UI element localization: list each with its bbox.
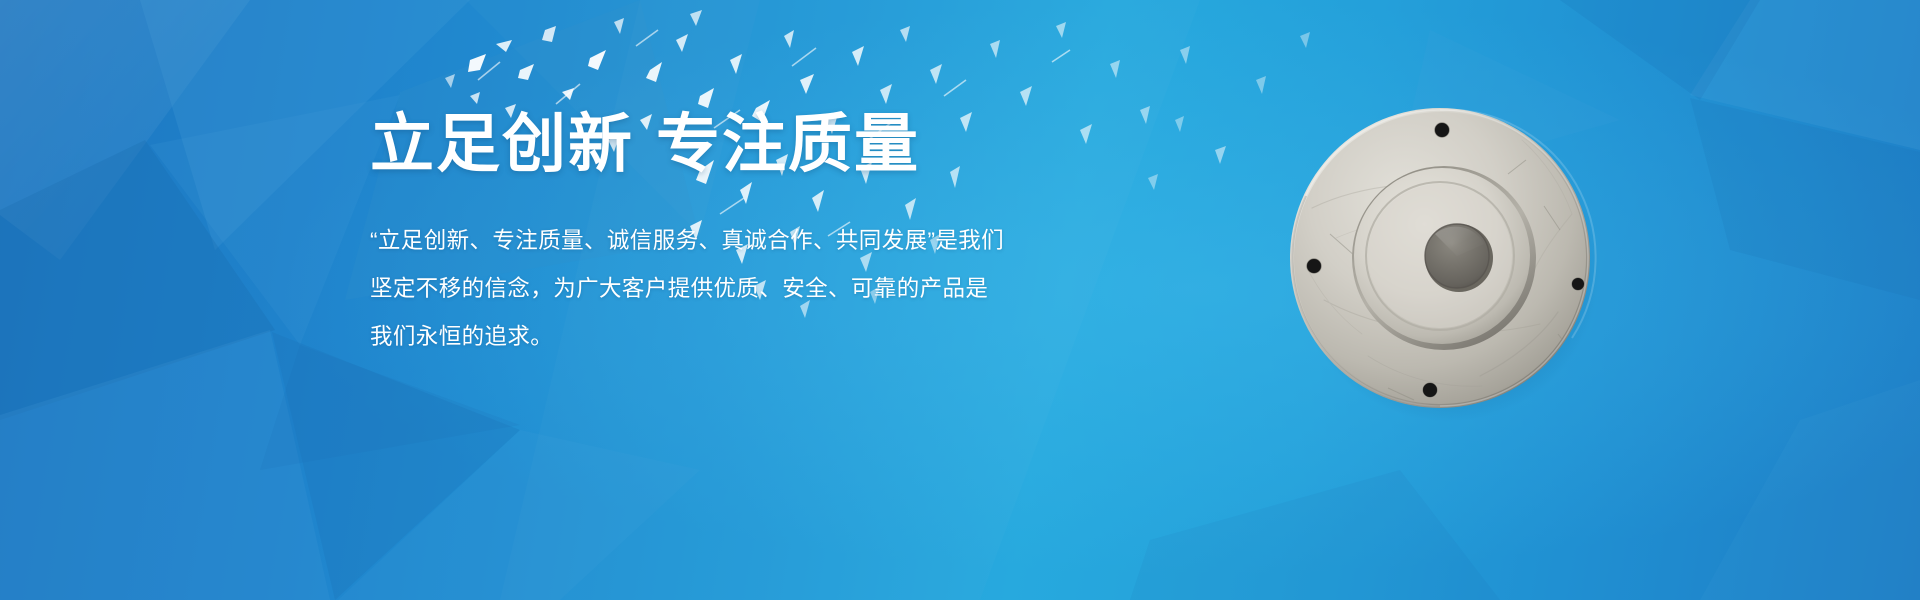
headline-part-2: 专注质量 xyxy=(656,108,920,180)
banner-copy: 立足创新专注质量 “立足创新、专注质量、诚信服务、真诚合作、共同发展”是我们坚定… xyxy=(370,110,990,361)
product-photo-metal-flange xyxy=(1272,88,1612,428)
metal-flange-image xyxy=(1272,88,1612,428)
headline-part-1: 立足创新 xyxy=(370,108,634,180)
banner-description: “立足创新、专注质量、诚信服务、真诚合作、共同发展”是我们坚定不移的信念，为广大… xyxy=(370,217,1010,361)
hero-banner: 立足创新专注质量 “立足创新、专注质量、诚信服务、真诚合作、共同发展”是我们坚定… xyxy=(0,0,1920,600)
page-title: 立足创新专注质量 xyxy=(370,110,990,179)
description-line-3: 的追求。 xyxy=(462,324,554,349)
